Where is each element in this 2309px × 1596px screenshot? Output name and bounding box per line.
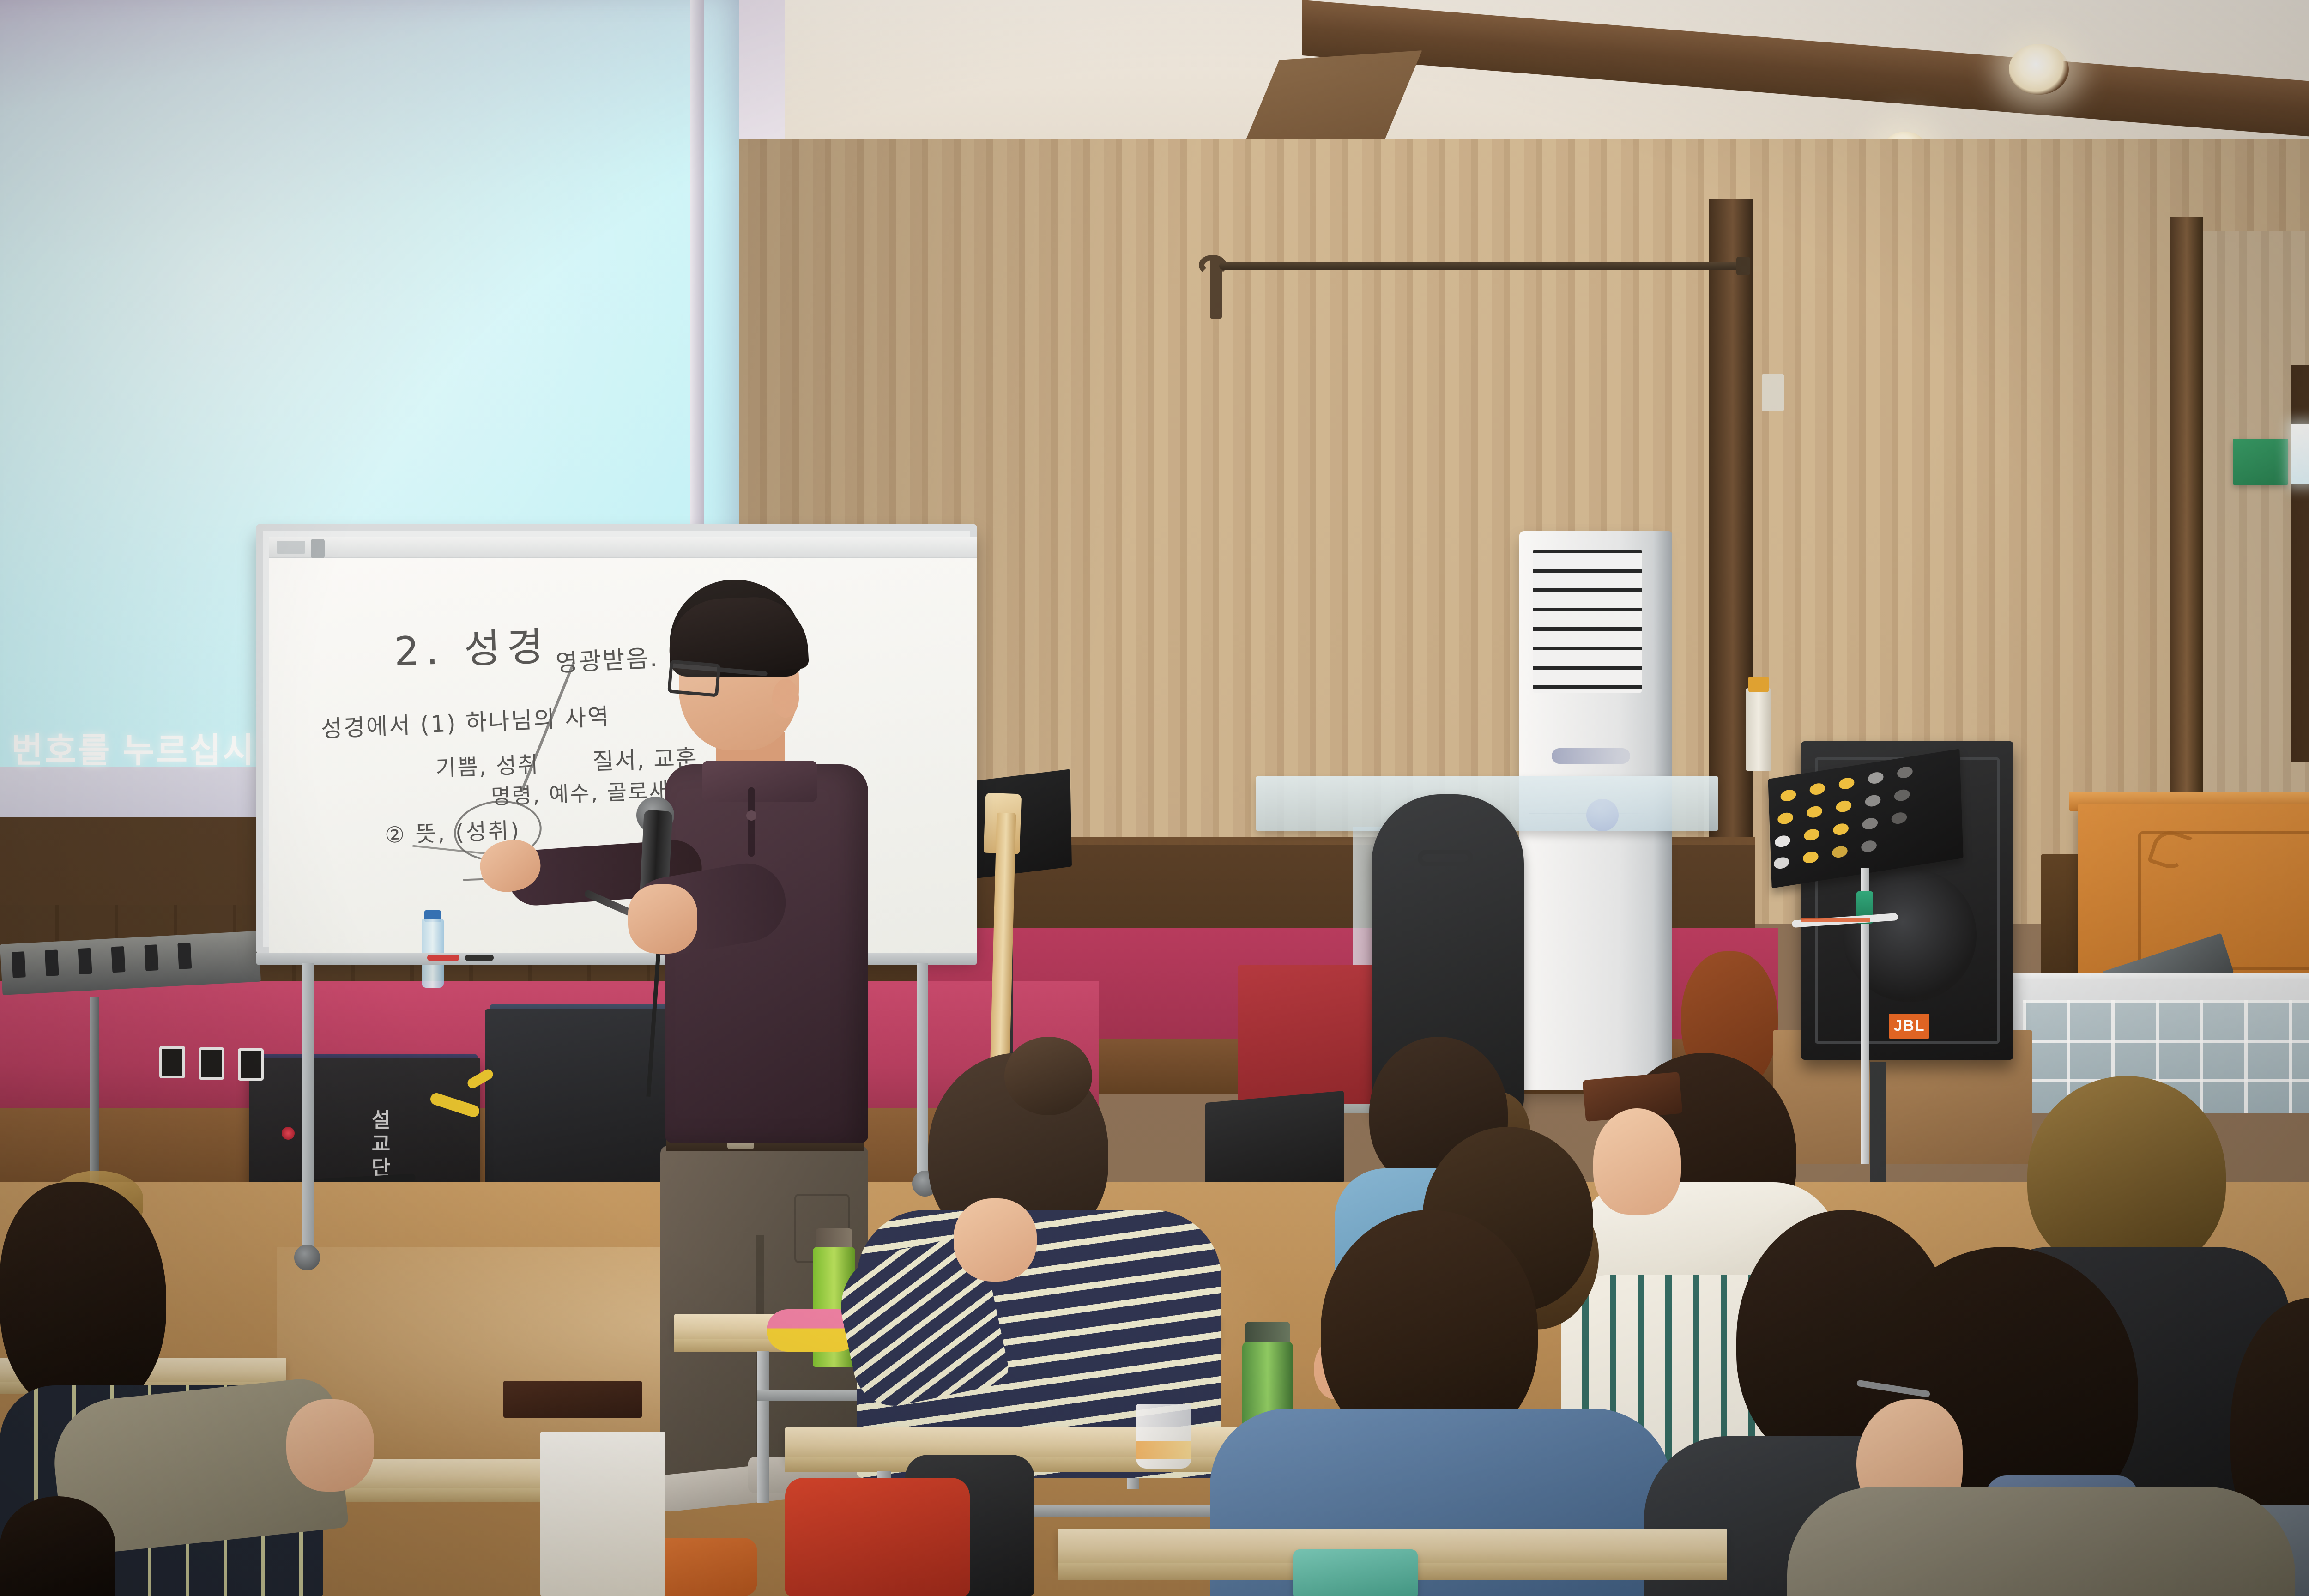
whiteboard-label-tab <box>277 541 305 554</box>
audience-head-brown-hair <box>2027 1076 2226 1275</box>
whiteboard-leg-left <box>302 963 314 1249</box>
stage-monitor-wedge <box>1205 1091 1344 1195</box>
paper-cup-band <box>1136 1441 1191 1459</box>
audience-head-front-left <box>0 1182 166 1413</box>
amp-knob-icon[interactable] <box>282 1127 295 1140</box>
table-leg <box>757 1351 769 1503</box>
emergency-exit-sign <box>2233 439 2288 485</box>
audience-body-olive-jacket <box>1787 1487 2295 1596</box>
whiteboard-note-2: 기쁨, 성취 <box>435 746 540 782</box>
wall-plate <box>1762 374 1784 411</box>
amp-label-text: 설교단 <box>351 1108 411 1180</box>
bible-book <box>503 1381 642 1418</box>
pa-speaker-stand <box>1870 1062 1886 1191</box>
audience-head-lower-left <box>0 1496 115 1596</box>
presenter-sweater <box>665 764 868 1143</box>
wall-socket-icon[interactable] <box>238 1048 264 1081</box>
audience-hand <box>286 1399 374 1492</box>
wall-socket-icon[interactable] <box>199 1047 224 1080</box>
lecture-hall-photo: 번호를 누르십시오. JBL <box>0 0 2309 1596</box>
gig-bag-handle-icon <box>1418 850 1473 866</box>
presenter-placket <box>748 787 755 857</box>
presenter-ear <box>772 679 799 718</box>
whiteboard-caster-icon <box>294 1245 320 1270</box>
black-marker-icon[interactable] <box>465 955 494 961</box>
audience-hand <box>1593 1108 1681 1215</box>
curtain-rod-end <box>1736 257 1750 275</box>
microphone-cable <box>646 931 662 1097</box>
whiteboard-heading: 2. 성경 <box>393 614 551 677</box>
wall-column <box>2170 217 2203 864</box>
downlight-icon <box>2009 44 2069 95</box>
red-backpack <box>785 1478 970 1596</box>
air-conditioner-louvers <box>1533 550 1642 693</box>
jbl-logo-text: JBL <box>1889 1017 1929 1035</box>
presenter-mic-hand <box>628 884 697 954</box>
air-conditioner-brand-logo <box>1552 748 1630 764</box>
curtain-rod <box>1219 262 1746 270</box>
wall-light <box>2291 424 2309 484</box>
mint-green-case <box>1293 1549 1418 1596</box>
hair-bun <box>1004 1037 1092 1115</box>
fire-extinguisher-top <box>1748 677 1769 692</box>
fire-extinguisher-icon <box>1746 688 1771 771</box>
whiteboard-note-1: 성경에서 (1) 하나님의 사역 <box>320 698 610 744</box>
presenter-collar <box>702 761 817 802</box>
music-stand-arm-label <box>1801 918 1870 922</box>
red-marker-icon[interactable] <box>427 955 459 961</box>
whiteboard-leg-right <box>917 963 928 1180</box>
eyeglasses-lens-icon <box>667 659 721 697</box>
presenter-button-icon <box>746 810 756 821</box>
audience-hand <box>954 1198 1037 1282</box>
white-paper-bag <box>540 1432 665 1596</box>
whiteboard-clip-icon[interactable] <box>311 539 325 558</box>
whiteboard-top-rail <box>269 537 977 558</box>
wall-socket-icon[interactable] <box>159 1046 185 1078</box>
